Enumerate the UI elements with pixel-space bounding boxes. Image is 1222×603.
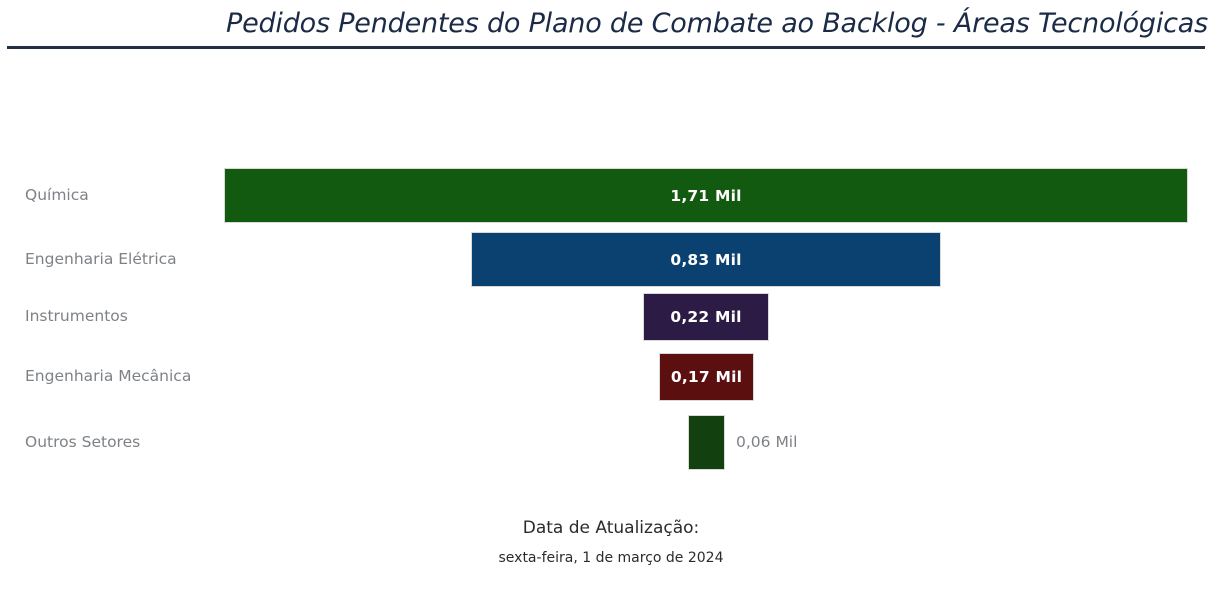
bar-value-label: 0,17 Mil [671,368,742,386]
bar-value-label: 0,06 Mil [736,433,797,451]
funnel-row: Engenharia Mecânica0,17 Mil [0,353,1222,401]
category-label: Química [25,186,89,204]
funnel-bar[interactable]: 1,71 Mil [224,168,1188,223]
bar-value-label: 0,22 Mil [670,308,741,326]
bar-value-label: 0,83 Mil [670,251,741,269]
funnel-bar[interactable]: 0,17 Mil [659,353,754,401]
category-label: Instrumentos [25,307,128,325]
funnel-row: Engenharia Elétrica0,83 Mil [0,232,1222,287]
bar-value-label: 1,71 Mil [670,187,741,205]
funnel-row: Química1,71 Mil [0,168,1222,223]
funnel-bar[interactable]: 0,83 Mil [471,232,941,287]
funnel-row: Outros Setores0,06 Mil [0,415,1222,470]
category-label: Engenharia Elétrica [25,250,177,268]
funnel-bar[interactable]: 0,22 Mil [643,293,769,341]
update-label: Data de Atualização: [0,516,1222,540]
funnel-row: Instrumentos0,22 Mil [0,293,1222,341]
title-divider [7,46,1205,49]
chart-header: Pedidos Pendentes do Plano de Combate ao… [0,0,1222,60]
page-title: Pedidos Pendentes do Plano de Combate ao… [0,7,1208,41]
update-date: sexta-feira, 1 de março de 2024 [0,546,1222,570]
category-label: Engenharia Mecânica [25,367,191,385]
update-info: Data de Atualização: sexta-feira, 1 de m… [0,516,1222,570]
funnel-bar[interactable] [688,415,725,470]
category-label: Outros Setores [25,433,140,451]
